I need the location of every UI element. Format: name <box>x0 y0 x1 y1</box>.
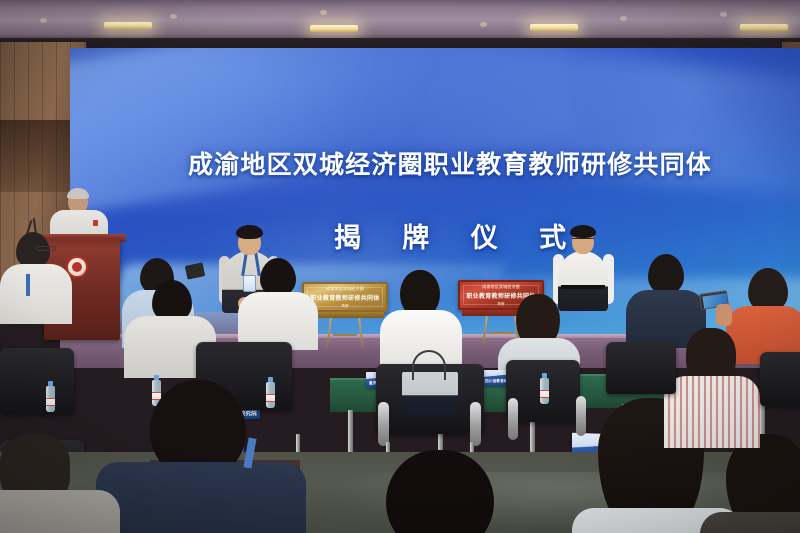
screen-swoosh-2 <box>365 48 800 205</box>
ceiling-light-1 <box>104 22 152 29</box>
water-bottle-3 <box>266 382 275 408</box>
handbag <box>402 372 458 416</box>
attendee-torso <box>700 512 800 533</box>
plaque-right-line3: 揭牌 <box>497 301 504 306</box>
handbag-strap <box>412 350 446 380</box>
attendee-hand <box>716 304 732 326</box>
chair-arm-left <box>378 402 389 446</box>
attendee-head <box>648 254 684 294</box>
attendee-torso <box>664 376 760 448</box>
chair-back-6 <box>606 342 676 394</box>
banner-subtitle: 揭 牌 仪 式 <box>70 216 800 255</box>
attendee-torso <box>0 490 120 533</box>
plaque-left-inner: 成渝地区双城经济圈 职业教育教师研修共同体 揭牌 <box>307 287 383 307</box>
water-bottle-1 <box>46 386 55 412</box>
chair-arm-right-2 <box>576 396 586 436</box>
plaque-right-crossbar <box>489 332 513 334</box>
hall-interior: 成渝地区双城经济圈职业教育教师研修共同体 揭 牌 仪 式 成渝地区双城经济圈 职… <box>0 42 800 533</box>
ceiling-spot-2 <box>170 14 177 19</box>
bottle-label <box>46 398 55 406</box>
ceiling-spot-1 <box>40 18 47 23</box>
ceiling-light-3 <box>530 24 578 31</box>
official-right-belt <box>561 285 605 289</box>
attendee-glasses-icon <box>36 246 56 251</box>
official-right-glasses-icon <box>572 238 594 242</box>
plaque-left-line3: 揭牌 <box>341 303 348 308</box>
speaker-lapel-badge <box>93 220 98 226</box>
attendee-torso <box>96 462 306 533</box>
ceiling-spot-3 <box>320 10 327 15</box>
attendee-lanyard <box>26 274 30 296</box>
ceiling-light-4 <box>740 24 788 31</box>
ceiling-light-2 <box>310 25 358 32</box>
attendee-head <box>260 258 296 296</box>
plaque-left-line2: 职业教育教师研修共同体 <box>310 293 379 302</box>
official-right-hair <box>570 225 596 238</box>
conference-photo-scene: 成渝地区双城经济圈职业教育教师研修共同体 揭 牌 仪 式 成渝地区双城经济圈 职… <box>0 0 800 533</box>
ceiling-spot-5 <box>620 16 627 21</box>
speaker-hair <box>67 188 89 199</box>
banner-title: 成渝地区双城经济圈职业教育教师研修共同体 <box>70 145 800 181</box>
official-right-torso <box>558 251 608 311</box>
water-bottle-4 <box>540 378 549 404</box>
chair-arm-left-2 <box>508 398 518 440</box>
official-left-badge <box>243 275 256 292</box>
official-left-hair <box>236 225 263 239</box>
plaque-left-line1: 成渝地区双城经济圈 <box>326 286 364 292</box>
ceiling <box>0 0 800 42</box>
chair-back-1 <box>0 348 74 414</box>
attendee-torso <box>0 264 72 324</box>
ceiling-spot-4 <box>480 22 487 27</box>
plaque-left-crossbar <box>333 334 357 336</box>
table-leg-1 <box>348 410 353 456</box>
chair-back-7 <box>760 352 800 406</box>
ceiling-spot-6 <box>720 12 727 17</box>
chair-arm-right <box>470 402 481 446</box>
bottle-label <box>540 390 549 398</box>
plaque-right-line1: 成渝地区双城经济圈 <box>482 284 520 290</box>
bottle-label <box>266 394 275 402</box>
